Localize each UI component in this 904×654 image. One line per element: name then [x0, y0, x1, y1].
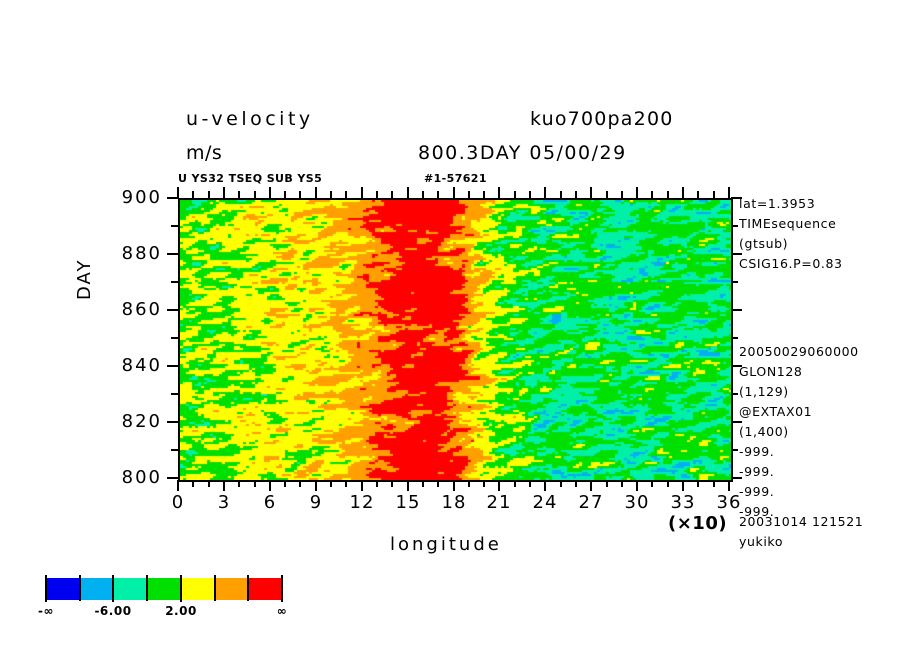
annotation-line: (1,400) — [739, 424, 789, 439]
y-axis-minor-tick — [731, 449, 738, 451]
y-axis-tick-label: 860 — [92, 299, 162, 320]
colorbar-tick — [214, 575, 216, 601]
x-axis-tick — [728, 480, 730, 491]
x-axis-minor-tick — [713, 191, 715, 198]
y-axis-tick — [167, 421, 178, 423]
units-label: m/s — [186, 142, 222, 164]
x-axis-minor-tick — [468, 191, 470, 198]
colorbar-swatch — [181, 578, 215, 600]
colorbar-swatch — [215, 578, 249, 600]
colorbar-swatch — [147, 578, 181, 600]
x-axis-minor-tick — [391, 480, 393, 487]
x-axis-minor-tick — [697, 480, 699, 487]
x-axis-tick — [544, 187, 546, 198]
x-axis-tick — [544, 480, 546, 491]
x-axis-minor-tick — [437, 191, 439, 198]
x-axis-tick-label: 27 — [569, 492, 613, 513]
x-axis-minor-tick — [468, 480, 470, 487]
y-axis-tick-label: 880 — [92, 243, 162, 264]
x-axis-minor-tick — [422, 191, 424, 198]
y-axis-tick — [167, 477, 178, 479]
y-axis-tick — [167, 365, 178, 367]
annotation-line: CSIG16.P=0.83 — [739, 256, 843, 271]
annotation-line: -999. — [739, 464, 774, 479]
x-axis-minor-tick — [575, 480, 577, 487]
y-axis-tick — [167, 309, 178, 311]
x-axis-minor-tick — [606, 191, 608, 198]
x-axis-minor-tick — [560, 480, 562, 487]
x-axis-tick-label: 0 — [156, 492, 200, 513]
x-axis-tick-label: 33 — [661, 492, 705, 513]
x-axis-minor-tick — [376, 191, 378, 198]
x-axis-minor-tick — [238, 480, 240, 487]
x-axis-minor-tick — [529, 191, 531, 198]
annotation-line: (gtsub) — [739, 236, 788, 251]
x-axis-tick-label: 18 — [432, 492, 476, 513]
x-axis-minor-tick — [299, 191, 301, 198]
x-axis-tick — [498, 480, 500, 491]
y-axis-minor-tick — [171, 225, 178, 227]
x-axis-tick — [269, 187, 271, 198]
x-axis-tick-label: 30 — [615, 492, 659, 513]
colorbar-swatch — [46, 578, 80, 600]
y-axis-minor-tick — [171, 449, 178, 451]
x-axis-minor-tick — [697, 191, 699, 198]
x-axis-tick — [498, 187, 500, 198]
y-axis-tick-label: 900 — [92, 187, 162, 208]
x-axis-tick — [223, 480, 225, 491]
y-axis-tick-label: 820 — [92, 411, 162, 432]
x-axis-minor-tick — [560, 191, 562, 198]
x-axis-tick — [361, 480, 363, 491]
author-label: yukiko — [739, 534, 783, 549]
annotation-line: lat=1.3953 — [739, 196, 815, 211]
y-axis-tick — [731, 253, 742, 255]
y-axis-title: DAY — [74, 259, 95, 300]
x-axis-tick-label: 3 — [202, 492, 246, 513]
render-timestamp-label: 20031014 121521 — [739, 514, 863, 529]
y-axis-minor-tick — [171, 393, 178, 395]
y-axis-minor-tick — [731, 281, 738, 283]
x-axis-minor-tick — [529, 480, 531, 487]
colorbar-tick-label: 2.00 — [151, 604, 211, 618]
annotation-line: 20050029060000 — [739, 344, 859, 359]
x-axis-minor-tick — [606, 480, 608, 487]
x-axis-minor-tick — [621, 191, 623, 198]
annotation-line: GLON128 — [739, 364, 802, 379]
x-axis-minor-tick — [345, 480, 347, 487]
x-axis-tick — [315, 480, 317, 491]
x-axis-tick — [453, 187, 455, 198]
y-axis-minor-tick — [171, 281, 178, 283]
x-axis-tick — [636, 480, 638, 491]
colorbar-tick-label: ∞ — [252, 604, 312, 618]
x-axis-minor-tick — [391, 191, 393, 198]
x-axis-minor-tick — [422, 480, 424, 487]
colorbar-tick — [146, 575, 148, 601]
colorbar-tick — [180, 575, 182, 602]
colorbar: -∞-6.002.00∞ — [46, 578, 282, 600]
x-axis-minor-tick — [254, 191, 256, 198]
annotation-line: @EXTAX01 — [739, 404, 812, 419]
colorbar-swatch — [113, 578, 147, 600]
x-axis-minor-tick — [483, 191, 485, 198]
x-axis-tick-label: 9 — [294, 492, 338, 513]
x-axis-tick — [682, 480, 684, 491]
x-axis-minor-tick — [192, 191, 194, 198]
variable-code-label: U YS32 TSEQ SUB YS5 — [178, 172, 322, 185]
x-axis-tick — [590, 187, 592, 198]
x-axis-tick — [223, 187, 225, 198]
x-axis-tick — [361, 187, 363, 198]
x-axis-tick — [636, 187, 638, 198]
x-axis-minor-tick — [514, 191, 516, 198]
y-axis-tick — [167, 253, 178, 255]
x-axis-minor-tick — [667, 191, 669, 198]
page-title: u-velocity — [186, 108, 314, 130]
y-axis-minor-tick — [731, 225, 738, 227]
x-axis-title: longitude — [390, 534, 502, 555]
annotation-line: -999. — [739, 444, 774, 459]
colorbar-tick-label: -∞ — [16, 604, 76, 618]
y-axis-tick — [731, 309, 742, 311]
x-axis-minor-tick — [192, 480, 194, 487]
colorbar-tick — [281, 575, 283, 602]
colorbar-tick — [112, 575, 114, 602]
x-axis-tick-label: 6 — [248, 492, 292, 513]
x-axis-minor-tick — [345, 191, 347, 198]
annotation-line: -999. — [739, 484, 774, 499]
colorbar-tick — [247, 575, 249, 601]
x-axis-minor-tick — [254, 480, 256, 487]
x-axis-minor-tick — [575, 191, 577, 198]
x-axis-tick — [682, 187, 684, 198]
x-axis-minor-tick — [651, 480, 653, 487]
x-axis-minor-tick — [621, 480, 623, 487]
x-axis-minor-tick — [514, 480, 516, 487]
x-axis-tick — [407, 480, 409, 491]
x-axis-minor-tick — [330, 480, 332, 487]
day-timestamp-label: 800.3DAY 05/00/29 — [418, 142, 627, 164]
y-axis-minor-tick — [731, 337, 738, 339]
x-axis-scale-note: (×10) — [668, 513, 727, 534]
y-axis-tick — [731, 421, 742, 423]
colorbar-tick-label: -6.00 — [83, 604, 143, 618]
annotation-line: TIMEsequence — [739, 216, 836, 231]
x-axis-tick-label: 21 — [477, 492, 521, 513]
x-axis-tick — [177, 187, 179, 198]
y-axis-tick-label: 840 — [92, 355, 162, 376]
x-axis-minor-tick — [299, 480, 301, 487]
y-axis-minor-tick — [731, 393, 738, 395]
x-axis-minor-tick — [437, 480, 439, 487]
x-axis-tick-label: 24 — [523, 492, 567, 513]
x-axis-tick — [453, 480, 455, 491]
axis-layer: 9008808608408208000369121518212427303336 — [178, 198, 729, 478]
x-axis-tick — [269, 480, 271, 491]
x-axis-minor-tick — [713, 480, 715, 487]
x-axis-tick — [407, 187, 409, 198]
x-axis-minor-tick — [284, 480, 286, 487]
x-axis-minor-tick — [651, 191, 653, 198]
colorbar-swatch — [248, 578, 282, 600]
x-axis-tick-label: 15 — [386, 492, 430, 513]
x-axis-minor-tick — [284, 191, 286, 198]
x-axis-tick — [177, 480, 179, 491]
annotation-line: (1,129) — [739, 384, 789, 399]
x-axis-tick — [728, 187, 730, 198]
x-axis-minor-tick — [376, 480, 378, 487]
colorbar-swatch — [80, 578, 114, 600]
y-axis-minor-tick — [171, 337, 178, 339]
model-name-label: kuo700pa200 — [530, 108, 674, 130]
x-axis-minor-tick — [330, 191, 332, 198]
dataset-id-label: #1-57621 — [424, 172, 487, 185]
x-axis-tick — [590, 480, 592, 491]
x-axis-tick — [315, 187, 317, 198]
x-axis-tick-label: 12 — [340, 492, 384, 513]
x-axis-minor-tick — [208, 191, 210, 198]
x-axis-minor-tick — [208, 480, 210, 487]
x-axis-minor-tick — [238, 191, 240, 198]
x-axis-minor-tick — [667, 480, 669, 487]
y-axis-tick-label: 800 — [92, 467, 162, 488]
colorbar-tick — [45, 575, 47, 602]
colorbar-tick — [79, 575, 81, 601]
x-axis-minor-tick — [483, 480, 485, 487]
